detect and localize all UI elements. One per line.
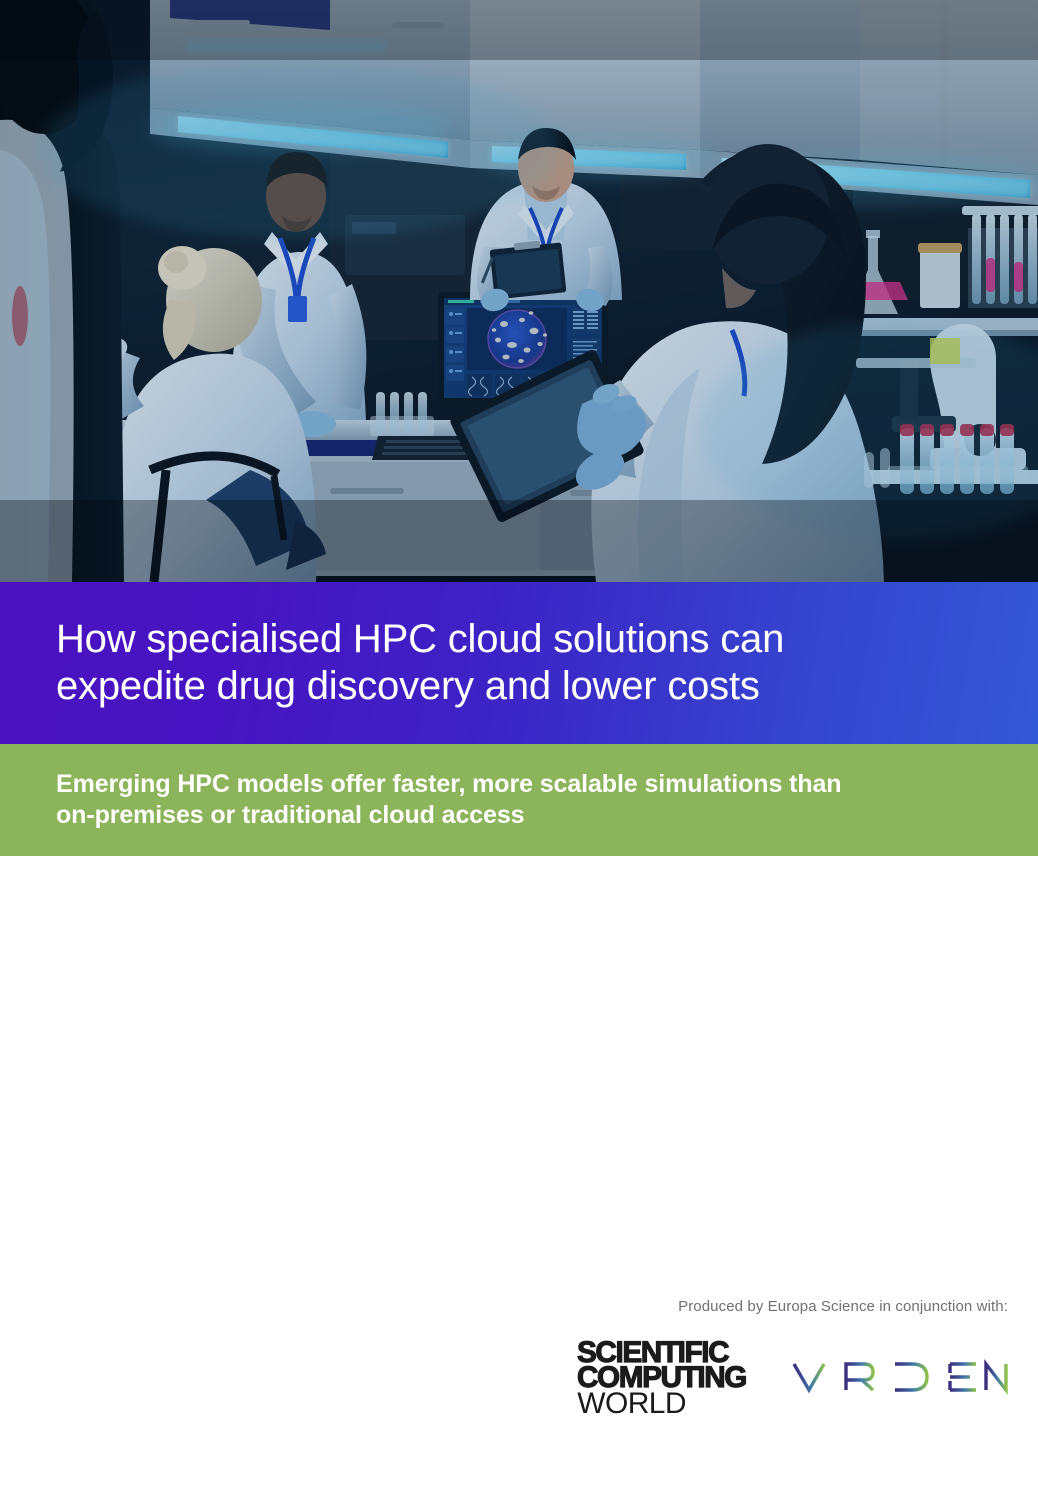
lab-scene-illustration (0, 0, 1038, 582)
subtitle-band: Emerging HPC models offer faster, more s… (0, 744, 1038, 856)
hero-image (0, 0, 1038, 582)
title-line-2: expedite drug discovery and lower costs (56, 664, 760, 708)
title-band: How specialised HPC cloud solutions cane… (0, 582, 1038, 744)
scw-line-3: WORLD (577, 1391, 686, 1416)
logo-row: SCIENTIFIC COMPUTING WORLD (577, 1340, 1012, 1417)
viridien-logo[interactable] (790, 1350, 1012, 1407)
page-title: How specialised HPC cloud solutions cane… (56, 616, 874, 710)
viridien-wordmark (790, 1350, 1012, 1402)
scientific-computing-world-logo[interactable]: SCIENTIFIC COMPUTING WORLD (577, 1340, 748, 1417)
subtitle-line-2: on-premises or traditional cloud access (56, 801, 524, 829)
scw-line-2: COMPUTING (577, 1365, 746, 1390)
page-subtitle: Emerging HPC models offer faster, more s… (56, 769, 911, 832)
title-line-1: How specialised HPC cloud solutions can (56, 617, 784, 661)
subtitle-line-1: Emerging HPC models offer faster, more s… (56, 770, 841, 798)
document-cover-page: How specialised HPC cloud solutions cane… (0, 0, 1038, 1485)
footer: Produced by Europa Science in conjunctio… (0, 1270, 1038, 1485)
producer-credit: Produced by Europa Science in conjunctio… (678, 1298, 1008, 1315)
